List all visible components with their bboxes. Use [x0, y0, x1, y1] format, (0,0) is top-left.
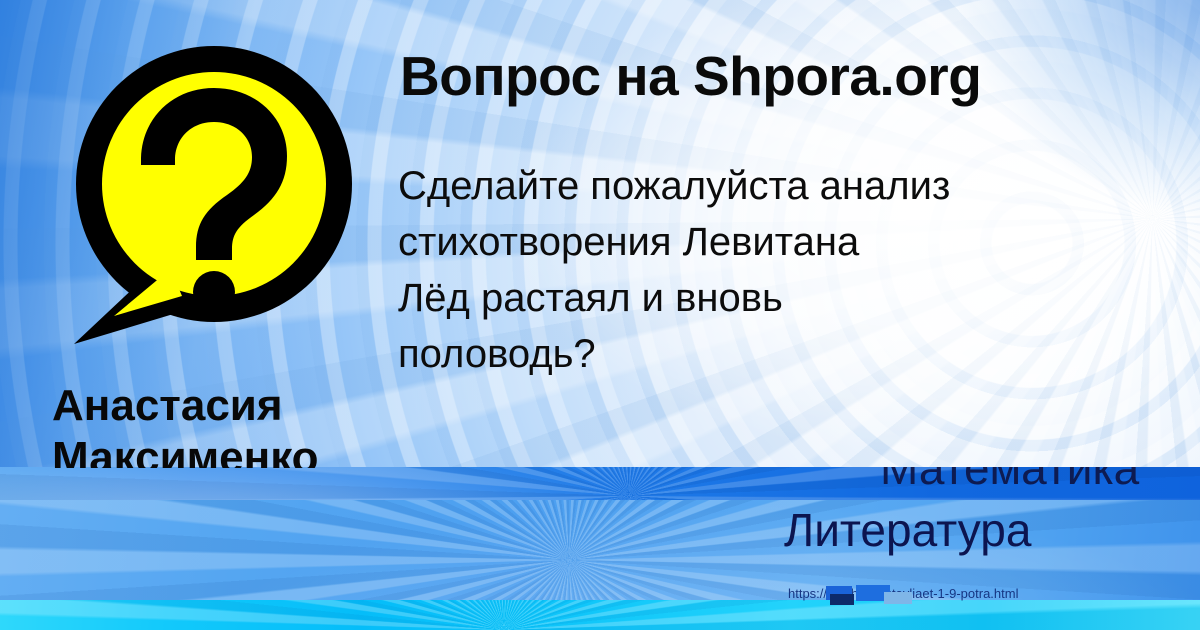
author-first-name: Анастасия — [52, 380, 492, 432]
subject-tag-math[interactable]: Математика — [880, 467, 1139, 491]
subject-literature-clip: Литература — [0, 500, 1200, 600]
author-last-name: Максименко — [52, 432, 492, 468]
subject-math-clip: Математика — [0, 467, 1200, 500]
band-cyan-footer — [0, 600, 1200, 630]
band-cyan-rays — [0, 600, 1200, 630]
url-redaction-block — [884, 592, 912, 604]
question-speech-bubble-icon — [62, 44, 362, 362]
question-line-3: Лёд растаял и вновь — [398, 270, 1068, 326]
subject-tag-literature[interactable]: Литература — [784, 505, 1031, 556]
author-name: Анастасия Максименко — [52, 380, 492, 468]
question-line-2: стихотворения Левитана — [398, 214, 1068, 270]
question-text: Сделайте пожалуйста анализ стихотворения… — [398, 158, 1068, 382]
question-line-1: Сделайте пожалуйста анализ — [398, 158, 1068, 214]
page-title: Вопрос на Shpora.org — [400, 48, 1100, 106]
url-redaction-block — [830, 594, 854, 605]
share-card-canvas: Вопрос на Shpora.org Сделайте пожалуйста… — [0, 0, 1200, 630]
question-line-4: половодь? — [398, 326, 1068, 382]
